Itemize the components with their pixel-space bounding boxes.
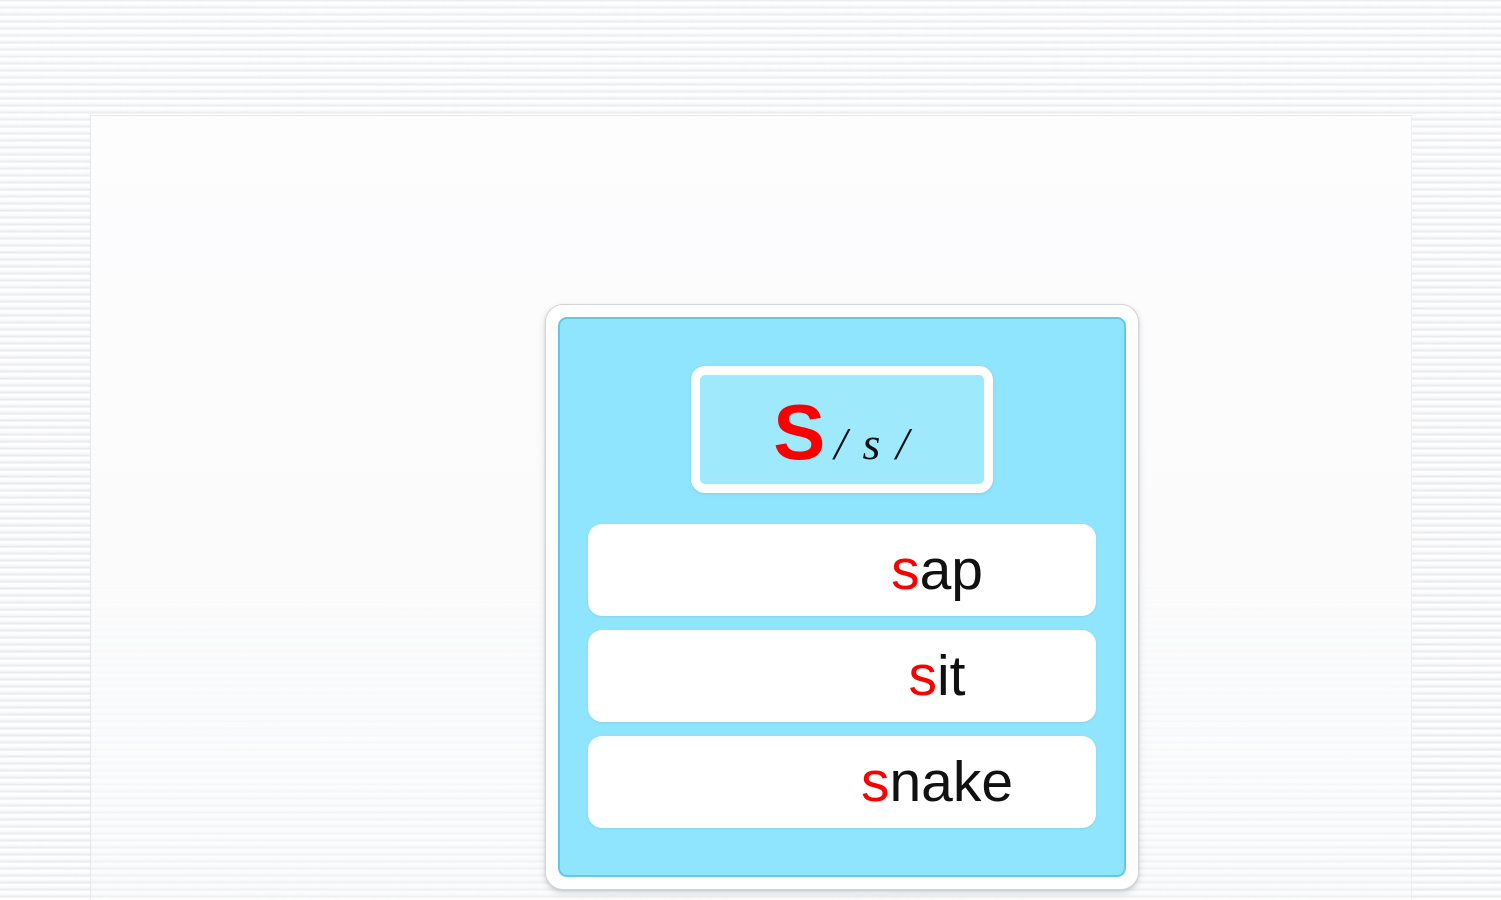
phonics-letter-card[interactable]: S / s / sap sit snake bbox=[545, 304, 1139, 890]
letter-sound-row: S / s / bbox=[773, 393, 911, 471]
worksheet-sheet: S / s / sap sit snake bbox=[90, 115, 1412, 900]
card-inner-panel: S / s / sap sit snake bbox=[558, 317, 1126, 877]
letter-sound-header[interactable]: S / s / bbox=[691, 366, 993, 493]
word-rime: nake bbox=[889, 750, 1013, 814]
word-row[interactable]: snake bbox=[588, 736, 1096, 828]
target-letter: S bbox=[773, 393, 825, 471]
word-list: sap sit snake bbox=[588, 524, 1096, 828]
phoneme-notation: / s / bbox=[834, 421, 910, 467]
word-text: snake bbox=[671, 697, 1013, 868]
word-onset: s bbox=[861, 750, 890, 814]
